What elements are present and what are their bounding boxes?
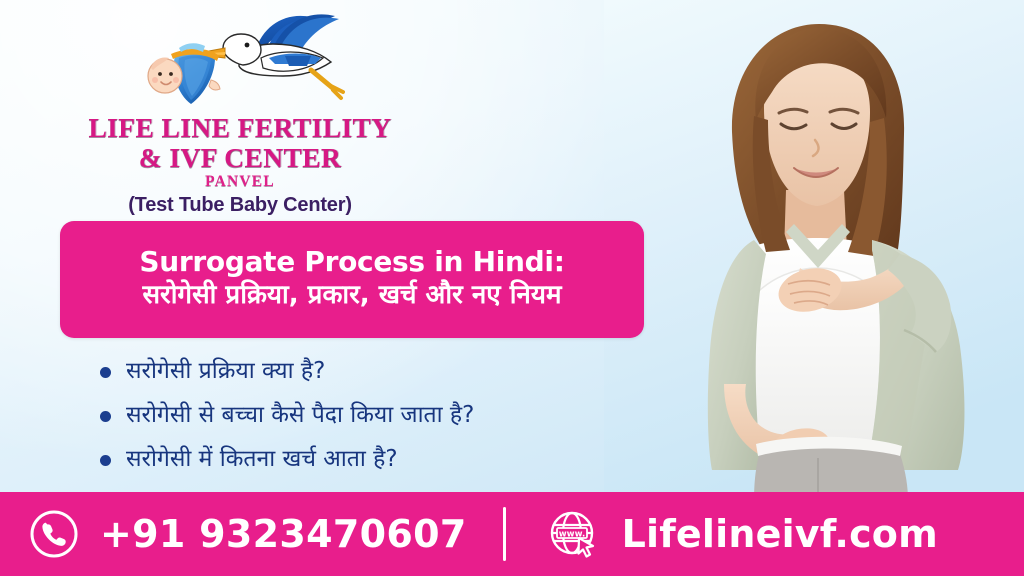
bullet-dot-icon [100, 367, 111, 378]
phone-contact[interactable]: +91 9323470607 [28, 508, 467, 560]
list-item-label: सरोगेसी से बच्चा कैसे पैदा किया जाता है? [126, 402, 474, 430]
stork-carrying-baby-icon [60, 14, 420, 109]
www-globe-cursor-icon: www. [546, 507, 600, 561]
list-item: सरोगेसी प्रक्रिया क्या है? [100, 350, 640, 394]
list-item: सरोगेसी में कितना खर्च आता है? [100, 438, 640, 482]
promotional-banner: LIFE LINE FERTILITY & IVF CENTER PANVEL … [0, 0, 1024, 576]
logo-line-1: LIFE LINE FERTILITY [60, 113, 420, 143]
phone-number: +91 9323470607 [100, 512, 467, 556]
title-english: Surrogate Process in Hindi: [139, 246, 564, 277]
svg-text:www.: www. [558, 529, 585, 539]
logo-city: PANVEL [60, 173, 420, 191]
title-hindi: सरोगेसी प्रक्रिया, प्रकार, खर्च और नए नि… [142, 279, 561, 313]
bullet-dot-icon [100, 455, 111, 466]
logo-line-2: & IVF CENTER [60, 143, 420, 173]
contact-bar: +91 9323470607 www. Lifelineivf.com [0, 492, 1024, 576]
website-contact[interactable]: www. Lifelineivf.com [546, 507, 938, 561]
logo-subtitle: (Test Tube Baby Center) [60, 194, 420, 217]
pregnant-woman-holding-belly-photo [604, 0, 1024, 500]
list-item-label: सरोगेसी प्रक्रिया क्या है? [126, 358, 325, 386]
list-item: सरोगेसी से बच्चा कैसे पैदा किया जाता है? [100, 394, 640, 438]
list-item-label: सरोगेसी में कितना खर्च आता है? [126, 446, 398, 474]
question-list: सरोगेसी प्रक्रिया क्या है? सरोगेसी से बच… [100, 350, 640, 482]
clinic-logo-block: LIFE LINE FERTILITY & IVF CENTER PANVEL … [60, 14, 420, 217]
bar-divider [503, 507, 506, 561]
title-banner: Surrogate Process in Hindi: सरोगेसी प्रक… [60, 221, 644, 338]
phone-circle-icon [28, 508, 80, 560]
bullet-dot-icon [100, 411, 111, 422]
website-url: Lifelineivf.com [622, 512, 938, 556]
